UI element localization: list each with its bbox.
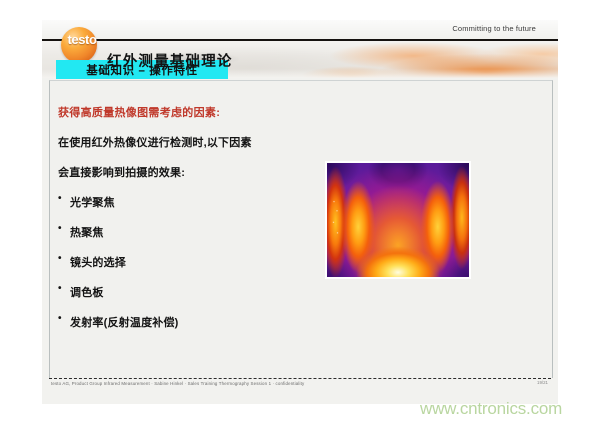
page-number: 19/21 — [537, 380, 548, 385]
page-title: 红外测量基础理论 — [107, 50, 233, 71]
slide-header: Committing to the future testo 红外测量基础理论 — [42, 20, 558, 78]
list-item: 调色板 — [58, 284, 358, 300]
testo-logo-label: testo — [56, 33, 108, 47]
thermal-image-frame — [325, 161, 471, 279]
list-item: 光学聚焦 — [58, 194, 358, 210]
site-watermark: www.cntronics.com — [420, 399, 562, 419]
slide: Committing to the future testo 红外测量基础理论 … — [42, 20, 558, 404]
lead-line-1: 在使用红外热像仪进行检测时,以下因素 — [58, 134, 358, 150]
company-tagline: Committing to the future — [452, 24, 536, 33]
list-item: 镜头的选择 — [58, 254, 358, 270]
lead-heading-red: 获得高质量热像图需考虑的因素: — [58, 104, 358, 120]
thermal-hotspot-speckles — [331, 197, 341, 243]
thermal-infrared-image — [327, 163, 469, 277]
footer-credit-text: testo AG, Product Group Infrared Measure… — [51, 381, 304, 386]
content-text-block: 获得高质量热像图需考虑的因素: 在使用红外热像仪进行检测时,以下因素 会直接影响… — [58, 104, 358, 344]
lead-line-2: 会直接影响到拍摄的效果: — [58, 164, 358, 180]
footer-divider — [49, 378, 551, 379]
factors-bullet-list: 光学聚焦 热聚焦 镜头的选择 调色板 发射率(反射温度补偿) — [58, 194, 358, 330]
list-item: 发射率(反射温度补偿) — [58, 314, 358, 330]
list-item: 热聚焦 — [58, 224, 358, 240]
